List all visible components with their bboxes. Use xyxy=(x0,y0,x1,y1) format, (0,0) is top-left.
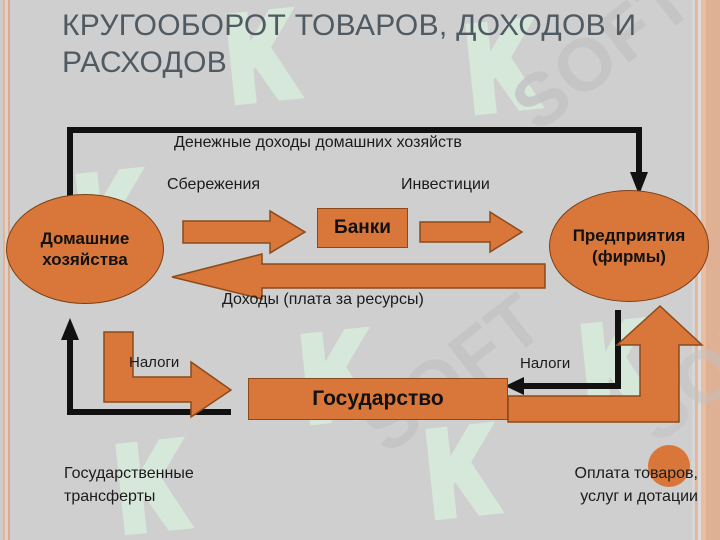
label-savings: Сбережения xyxy=(167,175,260,196)
node-firms-label: Предприятия (фирмы) xyxy=(573,225,686,268)
label-payments: Оплата товаров, услуг и дотации xyxy=(356,462,698,508)
node-households[interactable]: Домашние хозяйства xyxy=(6,194,164,304)
label-resource-income: Доходы (плата за ресурсы) xyxy=(222,290,424,311)
node-state-label: Государство xyxy=(312,387,444,411)
arrow-investments xyxy=(420,212,522,252)
label-state-transfers: Государственные трансферты xyxy=(64,462,194,508)
label-investments: Инвестиции xyxy=(401,175,490,196)
node-households-label: Домашние хозяйства xyxy=(41,228,130,271)
slide-canvas: SOFT SOFT SOFT КРУГООБОРОТ ТОВАРОВ, ДОХО… xyxy=(0,0,720,540)
node-firms[interactable]: Предприятия (фирмы) xyxy=(549,190,709,302)
arrow-taxes-households xyxy=(104,332,231,417)
label-taxes-right: Налоги xyxy=(520,354,570,374)
arrow-savings xyxy=(183,211,305,253)
node-banks-label: Банки xyxy=(334,217,391,239)
node-state[interactable]: Государство xyxy=(248,378,508,420)
label-money-income: Денежные доходы домашних хозяйств xyxy=(174,133,462,154)
label-taxes-left: Налоги xyxy=(129,353,179,373)
node-banks[interactable]: Банки xyxy=(317,208,408,248)
